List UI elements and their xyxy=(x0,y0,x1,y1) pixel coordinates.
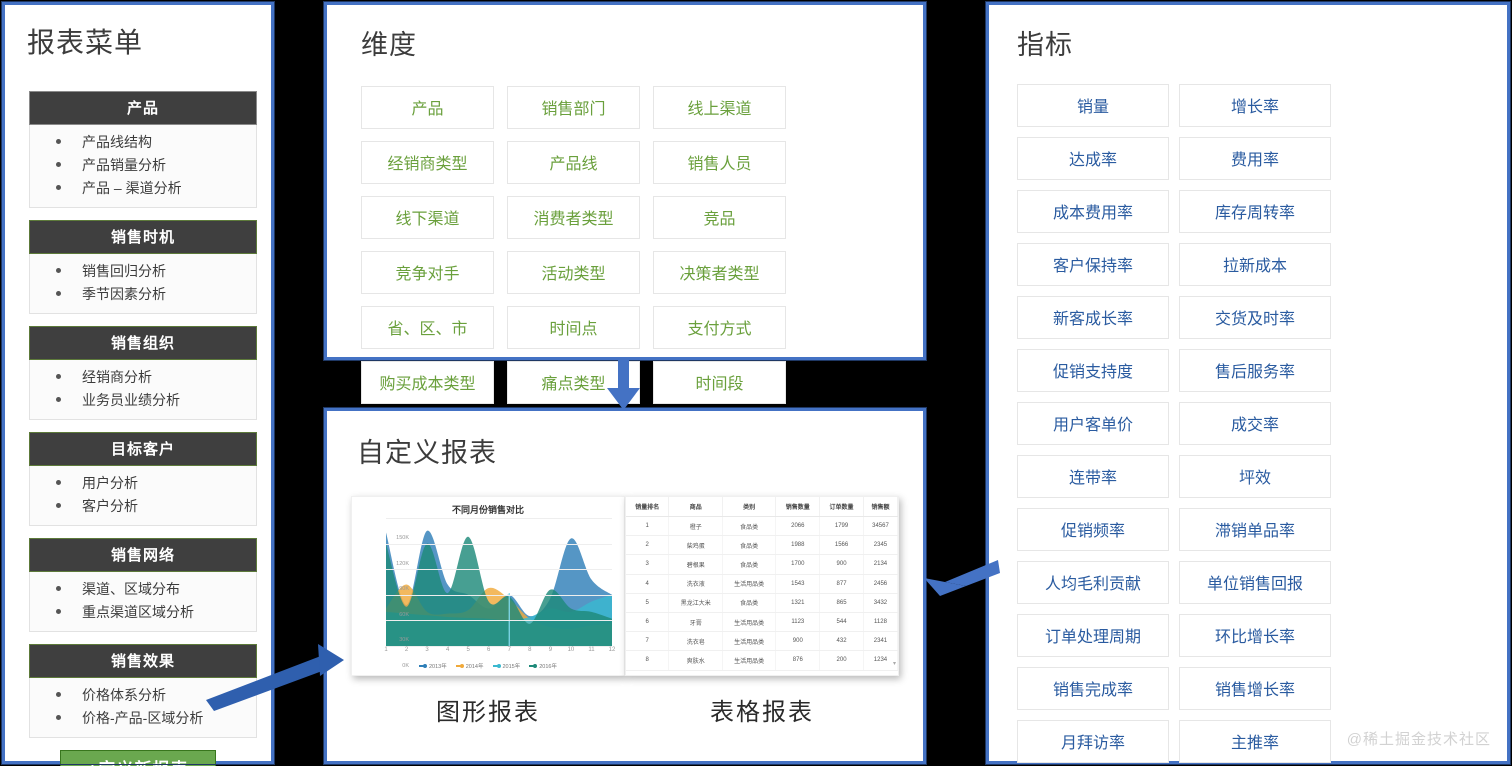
chart-y-tick-label: 0K xyxy=(402,663,409,669)
chart-gridline xyxy=(386,595,612,596)
table-row[interactable]: 1橙子食品类2066179934567 xyxy=(626,517,898,536)
metric-tag[interactable]: 成交率 xyxy=(1179,402,1331,445)
table-cell: 877 xyxy=(820,574,864,593)
chart-legend-item[interactable]: 2014年 xyxy=(456,662,484,670)
menu-item[interactable]: 销售回归分析 xyxy=(30,260,256,283)
metric-panel-title: 指标 xyxy=(1017,23,1491,62)
dimension-tag[interactable]: 决策者类型 xyxy=(653,251,786,294)
table-cell: 544 xyxy=(820,612,864,631)
chart-gridline xyxy=(386,544,612,545)
table-cell: 食品类 xyxy=(722,593,775,612)
metric-tag[interactable]: 新客成长率 xyxy=(1017,296,1169,339)
chart-legend-item[interactable]: 2015年 xyxy=(493,662,521,670)
report-preview-row: 不同月份销售对比 150K120K90K60K30K0K 12345678910… xyxy=(345,496,905,727)
dimension-panel: 维度 产品销售部门线上渠道经销商类型产品线销售人员线下渠道消费者类型竞品竞争对手… xyxy=(324,2,926,360)
dimension-tag[interactable]: 时间点 xyxy=(507,306,640,349)
legend-dot-icon xyxy=(460,664,464,668)
table-cell: 4 xyxy=(626,574,669,593)
menu-group-header[interactable]: 目标客户 xyxy=(29,432,257,466)
table-cell: 8 xyxy=(626,651,669,670)
metric-tag[interactable]: 促销频率 xyxy=(1017,508,1169,551)
legend-dot-icon xyxy=(423,664,427,668)
dimension-tag[interactable]: 竞争对手 xyxy=(361,251,494,294)
menu-group: 产品产品线结构产品销量分析产品 – 渠道分析 xyxy=(29,91,257,208)
chart-y-tick-label: 60K xyxy=(399,612,409,618)
metric-tag[interactable]: 月拜访率 xyxy=(1017,720,1169,763)
menu-item[interactable]: 经销商分析 xyxy=(30,366,256,389)
menu-item[interactable]: 季节因素分析 xyxy=(30,283,256,306)
menu-item[interactable]: 用户分析 xyxy=(30,472,256,495)
table-cell: 碧根果 xyxy=(669,555,722,574)
table-cell: 876 xyxy=(776,651,820,670)
chart-legend-item[interactable]: 2013年 xyxy=(419,662,447,670)
table-cell: 食品类 xyxy=(722,517,775,536)
menu-group-header[interactable]: 销售效果 xyxy=(29,644,257,678)
chart-x-tick-label: 5 xyxy=(467,647,470,653)
metric-tag[interactable]: 销售完成率 xyxy=(1017,667,1169,710)
metric-tag[interactable]: 售后服务率 xyxy=(1179,349,1331,392)
legend-dot-icon xyxy=(497,664,501,668)
legend-dot-icon xyxy=(533,664,537,668)
table-column-header[interactable]: 订单数量 xyxy=(820,497,864,517)
table-column-header[interactable]: 销售额 xyxy=(863,497,897,517)
chart-report-caption: 图形报表 xyxy=(351,692,625,727)
dimension-tag[interactable]: 线下渠道 xyxy=(361,196,494,239)
chart-title: 不同月份销售对比 xyxy=(360,503,616,516)
menu-group-header[interactable]: 销售时机 xyxy=(29,220,257,254)
table-row[interactable]: 3碧根果食品类17009002134 xyxy=(626,555,898,574)
menu-group: 销售效果价格体系分析价格-产品-区域分析 xyxy=(29,644,257,738)
chart-y-tick-label: 90K xyxy=(399,586,409,592)
table-cell: 生活用品类 xyxy=(722,632,775,651)
report-menu-panel: 报表菜单 产品产品线结构产品销量分析产品 – 渠道分析销售时机销售回归分析季节因… xyxy=(2,2,274,764)
table-body: 1橙子食品类20661799345672柴鸡蛋食品类1988156623453碧… xyxy=(626,517,898,671)
table-row[interactable]: 2柴鸡蛋食品类198815662345 xyxy=(626,536,898,555)
metric-tag-grid: 销量增长率达成率费用率成本费用率库存周转率客户保持率拉新成本新客成长率交货及时率… xyxy=(1005,84,1491,766)
table-cell: 6 xyxy=(626,612,669,631)
table-cell: 1123 xyxy=(776,612,820,631)
table-cell: 1128 xyxy=(863,612,897,631)
table-report-card[interactable]: 销量排名商品类别销售数量订单数量销售额 1橙子食品类20661799345672… xyxy=(625,496,899,727)
table-cell: 食品类 xyxy=(722,536,775,555)
dimension-tag[interactable]: 线上渠道 xyxy=(653,86,786,129)
table-cell: 橙子 xyxy=(669,517,722,536)
chart-x-tick-label: 10 xyxy=(568,647,575,653)
chart-x-tick-label: 8 xyxy=(528,647,531,653)
table-cell: 2345 xyxy=(863,536,897,555)
chart-gridline xyxy=(386,620,612,621)
dimension-panel-title: 维度 xyxy=(361,23,903,62)
dimension-tag[interactable]: 消费者类型 xyxy=(507,196,640,239)
dimension-tag[interactable]: 省、区、市 xyxy=(361,306,494,349)
report-menu-title: 报表菜单 xyxy=(27,21,255,61)
menu-group: 销售网络渠道、区域分布重点渠道区域分析 xyxy=(29,538,257,632)
chart-x-tick-label: 12 xyxy=(609,647,616,653)
menu-group-body: 经销商分析业务员业绩分析 xyxy=(29,360,257,420)
metric-tag[interactable]: 坪效 xyxy=(1179,455,1331,498)
menu-group: 销售组织经销商分析业务员业绩分析 xyxy=(29,326,257,420)
menu-group-body: 产品线结构产品销量分析产品 – 渠道分析 xyxy=(29,125,257,208)
metric-tag[interactable]: 环比增长率 xyxy=(1179,614,1331,657)
chart-report-thumbnail: 不同月份销售对比 150K120K90K60K30K0K 12345678910… xyxy=(351,496,625,676)
menu-item[interactable]: 价格体系分析 xyxy=(30,684,256,707)
table-report-caption: 表格报表 xyxy=(625,692,899,727)
table-cell: 2134 xyxy=(863,555,897,574)
table-cell: 5 xyxy=(626,593,669,612)
metric-tag[interactable]: 销售增长率 xyxy=(1179,667,1331,710)
dimension-tag[interactable]: 产品线 xyxy=(507,141,640,184)
table-cell: 1988 xyxy=(776,536,820,555)
metric-tag[interactable]: 人均毛利贡献 xyxy=(1017,561,1169,604)
table-cell: 3432 xyxy=(863,593,897,612)
chart-legend-item[interactable]: 2016年 xyxy=(529,662,557,670)
menu-group-body: 用户分析客户分析 xyxy=(29,466,257,526)
table-cell: 900 xyxy=(820,555,864,574)
metric-tag[interactable]: 费用率 xyxy=(1179,137,1331,180)
metric-tag[interactable]: 连带率 xyxy=(1017,455,1169,498)
chart-x-tick-label: 1 xyxy=(384,647,387,653)
menu-item[interactable]: 产品 – 渠道分析 xyxy=(30,177,256,200)
menu-group: 销售时机销售回归分析季节因素分析 xyxy=(29,220,257,314)
chart-x-tick-label: 2 xyxy=(405,647,408,653)
table-cell: 生活用品类 xyxy=(722,612,775,631)
dimension-tag[interactable]: 销售人员 xyxy=(653,141,786,184)
table-cell: 生活用品类 xyxy=(722,651,775,670)
table-cell: 1799 xyxy=(820,517,864,536)
metric-panel: 指标 销量增长率达成率费用率成本费用率库存周转率客户保持率拉新成本新客成长率交货… xyxy=(986,2,1510,764)
metric-tag[interactable]: 主推率 xyxy=(1179,720,1331,763)
table-cell: 1543 xyxy=(776,574,820,593)
table-cell: 1321 xyxy=(776,593,820,612)
legend-label: 2015年 xyxy=(503,662,521,670)
menu-item[interactable]: 客户分析 xyxy=(30,495,256,518)
metric-tag[interactable]: 达成率 xyxy=(1017,137,1169,180)
menu-group-header[interactable]: 产品 xyxy=(29,91,257,125)
chart-x-axis: 123456789101112 xyxy=(386,646,612,658)
chart-gridline xyxy=(386,518,612,519)
table-scroll-caret[interactable]: ▾ xyxy=(893,660,896,667)
metric-tag[interactable]: 促销支持度 xyxy=(1017,349,1169,392)
table-cell: 1566 xyxy=(820,536,864,555)
dimension-tag[interactable]: 销售部门 xyxy=(507,86,640,129)
chart-area-series xyxy=(386,518,612,646)
table-cell: 爽肤水 xyxy=(669,651,722,670)
table-column-header[interactable]: 销售数量 xyxy=(776,497,820,517)
custom-report-title: 自定义报表 xyxy=(357,431,905,470)
table-row[interactable]: 8爽肤水生活用品类8762001234 xyxy=(626,651,898,670)
table-row[interactable]: 6牙膏生活用品类11235441128 xyxy=(626,612,898,631)
menu-item[interactable]: 产品销量分析 xyxy=(30,154,256,177)
menu-item[interactable]: 重点渠道区域分析 xyxy=(30,601,256,624)
metric-tag[interactable]: 拉新成本 xyxy=(1179,243,1331,286)
chart-x-tick-label: 11 xyxy=(588,647,594,653)
table-row[interactable]: 5黑龙江大米食品类13218653432 xyxy=(626,593,898,612)
chart-x-tick-label: 6 xyxy=(487,647,490,653)
chart-y-tick-label: 30K xyxy=(399,637,409,643)
menu-item[interactable]: 业务员业绩分析 xyxy=(30,389,256,412)
table-cell: 洗衣皂 xyxy=(669,632,722,651)
table-cell: 食品类 xyxy=(722,555,775,574)
metric-tag[interactable]: 客户保持率 xyxy=(1017,243,1169,286)
table-cell: 1700 xyxy=(776,555,820,574)
menu-group-header[interactable]: 销售组织 xyxy=(29,326,257,360)
chart-y-tick-label: 120K xyxy=(396,561,409,567)
report-table: 销量排名商品类别销售数量订单数量销售额 1橙子食品类20661799345672… xyxy=(626,497,898,671)
chart-x-tick-label: 9 xyxy=(549,647,552,653)
table-cell: 200 xyxy=(820,651,864,670)
table-cell: 生活用品类 xyxy=(722,574,775,593)
table-cell: 900 xyxy=(776,632,820,651)
chart-x-tick-label: 7 xyxy=(508,647,511,653)
table-cell: 柴鸡蛋 xyxy=(669,536,722,555)
diagram-canvas: 报表菜单 产品产品线结构产品销量分析产品 – 渠道分析销售时机销售回归分析季节因… xyxy=(0,0,1512,766)
metric-tag[interactable]: 库存周转率 xyxy=(1179,190,1331,233)
table-cell: 7 xyxy=(626,632,669,651)
menu-group-body: 渠道、区域分布重点渠道区域分析 xyxy=(29,572,257,632)
dimension-tag[interactable]: 活动类型 xyxy=(507,251,640,294)
table-report-thumbnail: 销量排名商品类别销售数量订单数量销售额 1橙子食品类20661799345672… xyxy=(625,496,899,676)
menu-group: 目标客户用户分析客户分析 xyxy=(29,432,257,526)
menu-item[interactable]: 价格-产品-区域分析 xyxy=(30,707,256,730)
menu-group-body: 价格体系分析价格-产品-区域分析 xyxy=(29,678,257,738)
dimension-tag[interactable]: 购买成本类型 xyxy=(361,361,494,404)
new-report-button[interactable]: +定义新报表 xyxy=(60,750,216,766)
table-cell: 洗衣液 xyxy=(669,574,722,593)
chart-x-tick-label: 4 xyxy=(446,647,449,653)
legend-label: 2014年 xyxy=(466,662,484,670)
dimension-tag[interactable]: 痛点类型 xyxy=(507,361,640,404)
chart-gridline xyxy=(386,569,612,570)
table-column-header[interactable]: 类别 xyxy=(722,497,775,517)
table-cell: 2 xyxy=(626,536,669,555)
table-cell: 432 xyxy=(820,632,864,651)
table-header-row: 销量排名商品类别销售数量订单数量销售额 xyxy=(626,497,898,517)
dimension-tag[interactable]: 时间段 xyxy=(653,361,786,404)
table-cell: 3 xyxy=(626,555,669,574)
table-cell: 2456 xyxy=(863,574,897,593)
dimension-tag[interactable]: 产品 xyxy=(361,86,494,129)
metric-tag[interactable]: 滞销单品率 xyxy=(1179,508,1331,551)
watermark-label: @稀土掘金技术社区 xyxy=(1347,728,1491,749)
chart-report-card[interactable]: 不同月份销售对比 150K120K90K60K30K0K 12345678910… xyxy=(351,496,625,727)
metric-tag[interactable]: 订单处理周期 xyxy=(1017,614,1169,657)
legend-label: 2016年 xyxy=(539,662,557,670)
report-menu-group-list: 产品产品线结构产品销量分析产品 – 渠道分析销售时机销售回归分析季节因素分析销售… xyxy=(21,91,255,738)
chart-x-tick-label: 3 xyxy=(425,647,428,653)
metric-tag[interactable]: 销量 xyxy=(1017,84,1169,127)
chart-plot-area: 150K120K90K60K30K0K xyxy=(386,518,612,646)
metric-tag[interactable]: 增长率 xyxy=(1179,84,1331,127)
table-cell: 2066 xyxy=(776,517,820,536)
dimension-tag[interactable]: 经销商类型 xyxy=(361,141,494,184)
table-row[interactable]: 7洗衣皂生活用品类9004322341 xyxy=(626,632,898,651)
table-cell: 黑龙江大米 xyxy=(669,593,722,612)
dimension-tag[interactable]: 支付方式 xyxy=(653,306,786,349)
table-cell: 2341 xyxy=(863,632,897,651)
table-cell: 34567 xyxy=(863,517,897,536)
menu-group-header[interactable]: 销售网络 xyxy=(29,538,257,572)
table-column-header[interactable]: 商品 xyxy=(669,497,722,517)
chart-y-tick-label: 150K xyxy=(396,535,409,541)
custom-report-panel: 自定义报表 不同月份销售对比 150K120K90K60K30K0K 12345… xyxy=(324,408,926,764)
menu-item[interactable]: 产品线结构 xyxy=(30,131,256,154)
metric-tag[interactable]: 成本费用率 xyxy=(1017,190,1169,233)
legend-label: 2013年 xyxy=(429,662,447,670)
table-row[interactable]: 4洗衣液生活用品类15438772456 xyxy=(626,574,898,593)
menu-group-body: 销售回归分析季节因素分析 xyxy=(29,254,257,314)
menu-item[interactable]: 渠道、区域分布 xyxy=(30,578,256,601)
table-column-header[interactable]: 销量排名 xyxy=(626,497,669,517)
metric-tag[interactable]: 用户客单价 xyxy=(1017,402,1169,445)
metric-tag[interactable]: 单位销售回报 xyxy=(1179,561,1331,604)
table-cell: 865 xyxy=(820,593,864,612)
metric-tag[interactable]: 交货及时率 xyxy=(1179,296,1331,339)
dimension-tag[interactable]: 竞品 xyxy=(653,196,786,239)
table-cell: 1 xyxy=(626,517,669,536)
table-cell: 牙膏 xyxy=(669,612,722,631)
